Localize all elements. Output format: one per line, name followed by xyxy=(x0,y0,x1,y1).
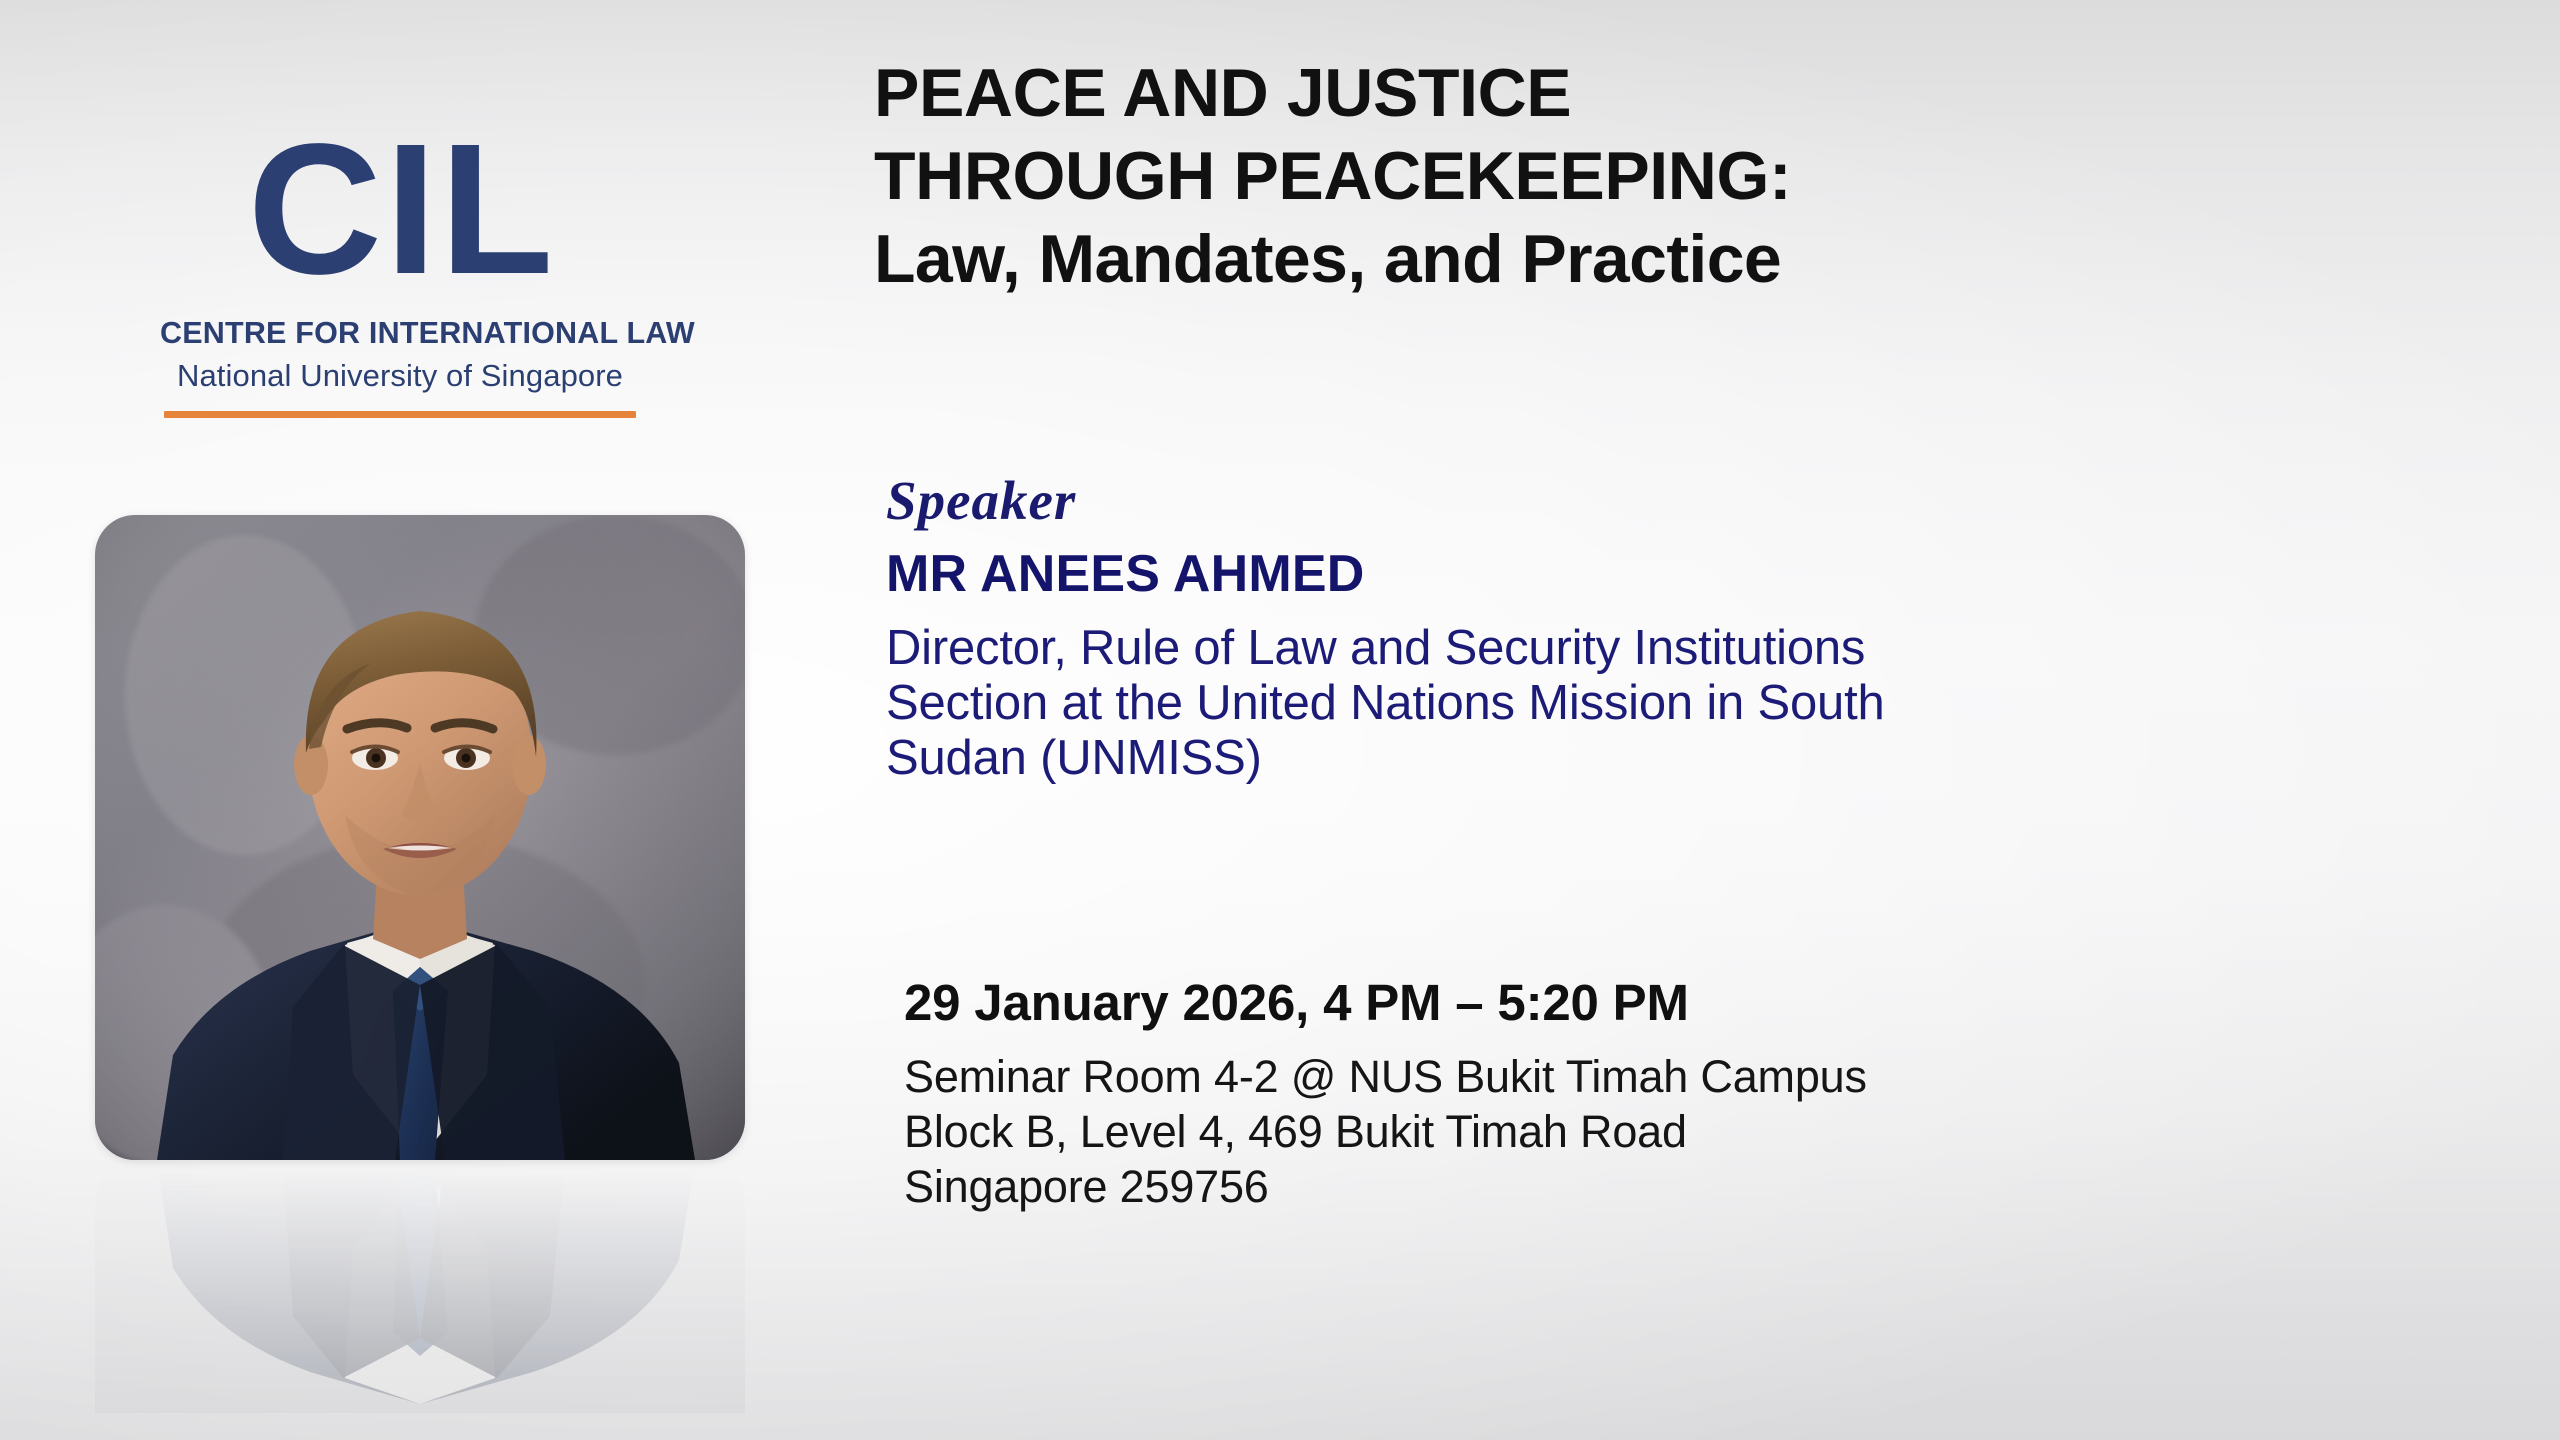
title-line-3-subtitle: Law, Mandates, and Practice xyxy=(874,218,2514,301)
speaker-section: Speaker MR ANEES AHMED Director, Rule of… xyxy=(886,473,2506,786)
title-line-1: PEACE AND JUSTICE xyxy=(874,52,2514,135)
speaker-name: MR ANEES AHMED xyxy=(886,545,2506,603)
portrait-reflection-illustration xyxy=(95,1163,745,1413)
event-poster: CIL CENTRE FOR INTERNATIONAL LAW Nationa… xyxy=(0,0,2560,1440)
event-datetime: 29 January 2026, 4 PM – 5:20 PM xyxy=(904,975,2504,1031)
speaker-role-line-2: Section at the United Nations Mission in… xyxy=(886,676,2506,731)
portrait-reflection xyxy=(95,1163,745,1413)
venue-section: 29 January 2026, 4 PM – 5:20 PM Seminar … xyxy=(904,975,2504,1215)
cil-logo-university-line: National University of Singapore xyxy=(160,358,640,394)
speaker-role-line-1: Director, Rule of Law and Security Insti… xyxy=(886,621,2506,676)
portrait-illustration xyxy=(95,515,745,1160)
venue-address: Seminar Room 4-2 @ NUS Bukit Timah Campu… xyxy=(904,1050,2504,1215)
cil-logo-wordmark: CIL xyxy=(164,130,640,290)
venue-line-2: Block B, Level 4, 469 Bukit Timah Road xyxy=(904,1105,2504,1160)
cil-logo-centre-line: CENTRE FOR INTERNATIONAL LAW xyxy=(160,316,640,351)
venue-line-1: Seminar Room 4-2 @ NUS Bukit Timah Campu… xyxy=(904,1050,2504,1105)
title-line-2: THROUGH PEACEKEEPING: xyxy=(874,135,2514,218)
speaker-role: Director, Rule of Law and Security Insti… xyxy=(886,621,2506,786)
speaker-kicker-label: Speaker xyxy=(886,473,2506,528)
speaker-portrait-image xyxy=(95,515,745,1160)
poster-title: PEACE AND JUSTICE THROUGH PEACEKEEPING: … xyxy=(874,52,2514,301)
cil-logo: CIL CENTRE FOR INTERNATIONAL LAW Nationa… xyxy=(160,130,640,418)
orange-rule-divider xyxy=(164,411,636,418)
venue-line-3: Singapore 259756 xyxy=(904,1160,2504,1215)
speaker-role-line-3: Sudan (UNMISS) xyxy=(886,731,2506,786)
speaker-portrait-container xyxy=(95,515,745,1160)
